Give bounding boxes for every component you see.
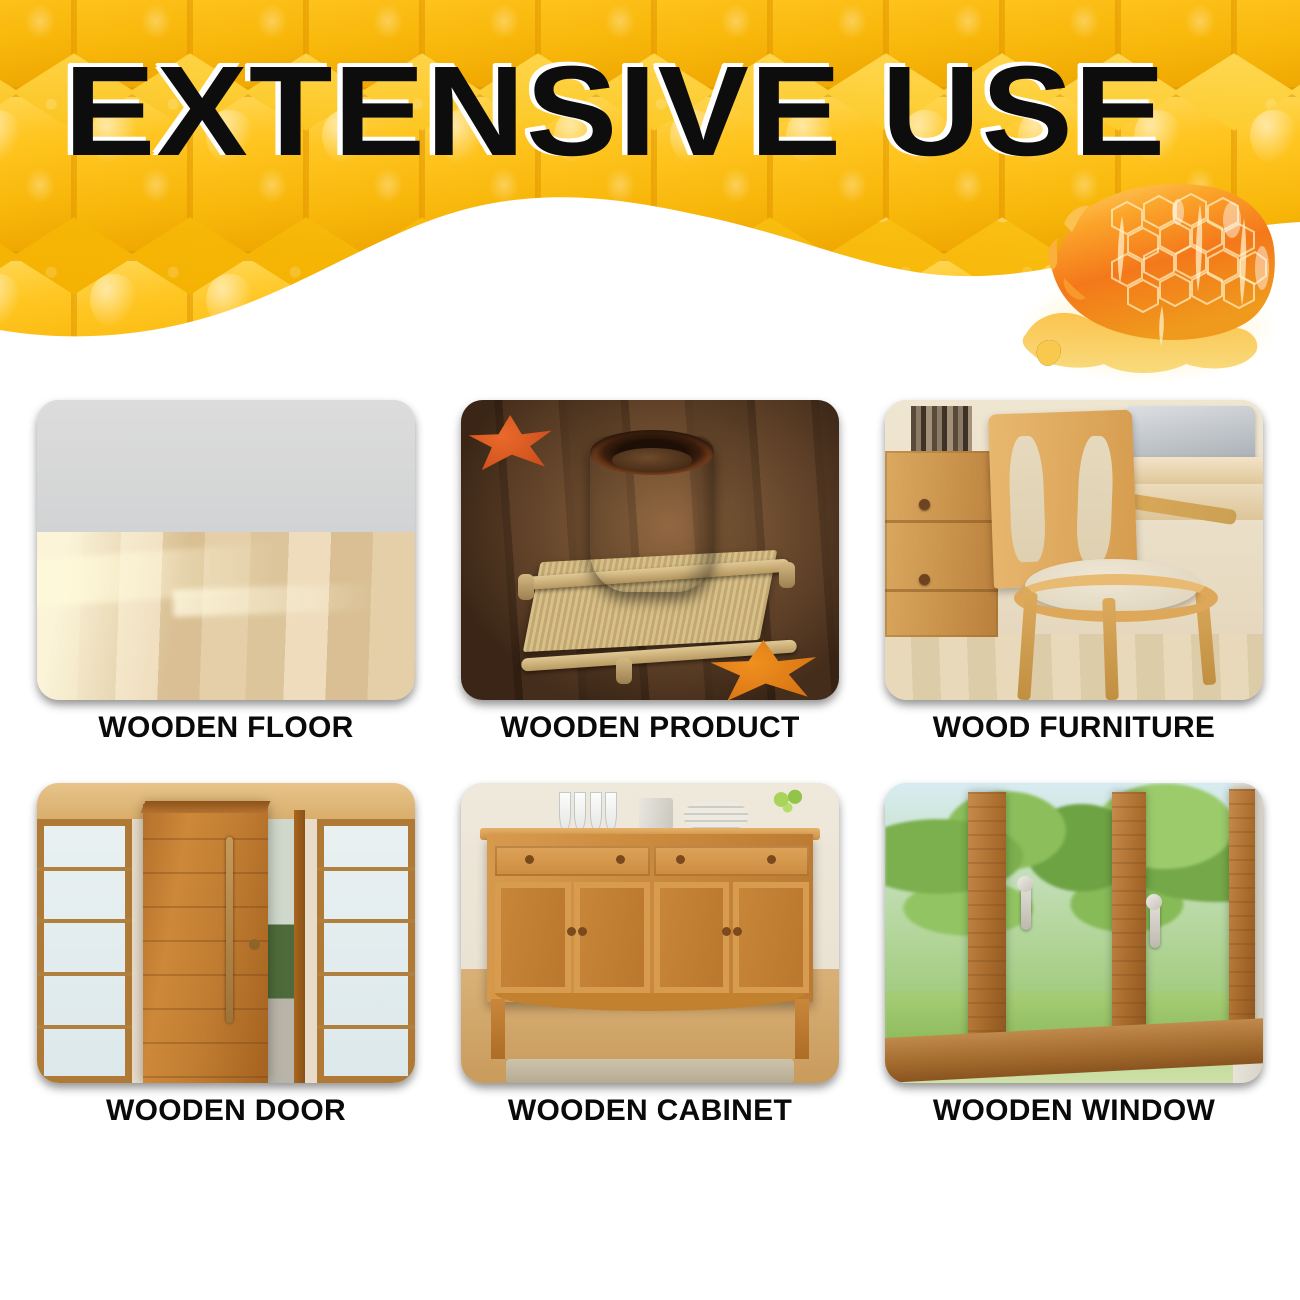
use-case-row: WOODEN FLOOR WOODEN (0, 400, 1300, 745)
honeycomb-chunk-image (994, 158, 1294, 390)
use-case-label: WOODEN PRODUCT (461, 711, 839, 745)
use-case-image-wooden-door[interactable] (37, 783, 415, 1083)
use-case-row: WOODEN DOOR (0, 783, 1300, 1128)
use-case-label: WOOD FURNITURE (885, 711, 1263, 745)
page-title: EXTENSIVE USE (64, 48, 1166, 176)
use-case-image-wooden-product[interactable] (461, 400, 839, 700)
use-case-image-wooden-cabinet[interactable] (461, 783, 839, 1083)
use-case-cell-wood-furniture[interactable]: WOOD FURNITURE (885, 400, 1263, 745)
use-case-label: WOODEN CABINET (461, 1094, 839, 1128)
use-case-label: WOODEN FLOOR (37, 711, 415, 745)
use-case-grid: WOODEN FLOOR WOODEN (0, 400, 1300, 1128)
use-case-cell-wooden-cabinet[interactable]: WOODEN CABINET (461, 783, 839, 1128)
use-case-cell-wooden-product[interactable]: WOODEN PRODUCT (461, 400, 839, 745)
use-case-image-wood-furniture[interactable] (885, 400, 1263, 700)
use-case-image-wooden-window[interactable] (885, 783, 1263, 1083)
use-case-cell-wooden-floor[interactable]: WOODEN FLOOR (37, 400, 415, 745)
use-case-cell-wooden-door[interactable]: WOODEN DOOR (37, 783, 415, 1128)
use-case-label: WOODEN DOOR (37, 1094, 415, 1128)
use-case-cell-wooden-window[interactable]: WOODEN WINDOW (885, 783, 1263, 1128)
use-case-label: WOODEN WINDOW (885, 1094, 1263, 1128)
use-case-image-wooden-floor[interactable] (37, 400, 415, 700)
